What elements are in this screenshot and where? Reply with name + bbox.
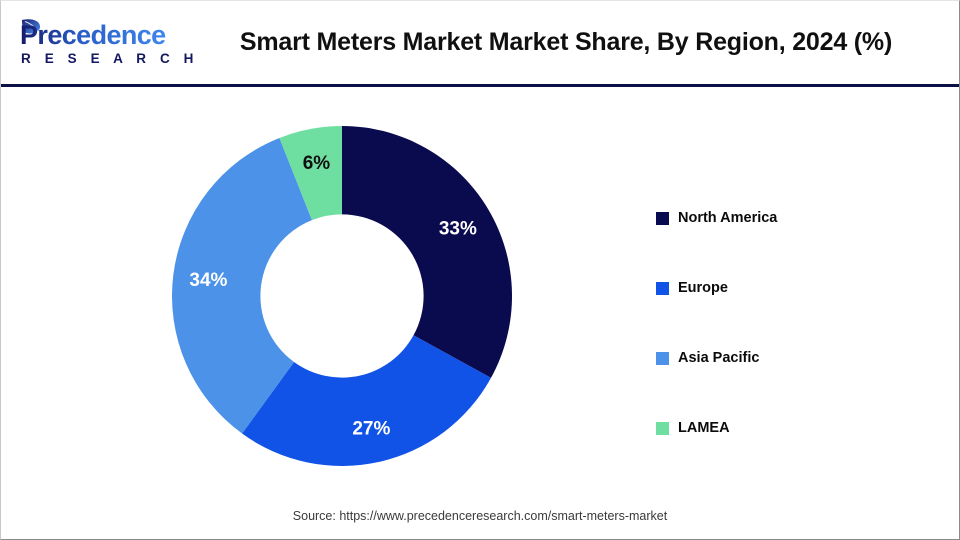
precedence-research-logo: Precedence R E S E A R C H [15, 17, 175, 73]
donut-slice-label: 27% [352, 418, 390, 439]
donut-slice[interactable] [342, 126, 512, 378]
legend-swatch-lamea [656, 422, 669, 435]
legend-swatch-asia-pacific [656, 352, 669, 365]
page-title: Smart Meters Market Market Share, By Reg… [181, 1, 951, 84]
chart-legend: North America Europe Asia Pacific LAMEA [656, 183, 906, 463]
svg-text:Precedence: Precedence [20, 20, 166, 50]
chart-header: Precedence R E S E A R C H Smart Meters … [1, 1, 959, 87]
legend-item-lamea[interactable]: LAMEA [656, 393, 906, 463]
legend-label-asia-pacific: Asia Pacific [678, 350, 759, 366]
donut-chart: 33%27%34%6% [172, 126, 512, 466]
logo-wordmark-icon: Precedence [15, 17, 175, 51]
source-caption: Source: https://www.precedenceresearch.c… [1, 509, 959, 523]
chart-body: 33%27%34%6% North America Europe Asia Pa… [1, 87, 959, 540]
donut-slice-label: 33% [439, 218, 477, 239]
donut-chart-svg: 33%27%34%6% [172, 126, 512, 466]
logo-subtitle: R E S E A R C H [21, 52, 171, 66]
donut-slices [172, 126, 512, 466]
donut-slice-label: 34% [189, 270, 227, 291]
legend-label-north-america: North America [678, 210, 777, 226]
legend-swatch-europe [656, 282, 669, 295]
legend-label-lamea: LAMEA [678, 420, 730, 436]
legend-swatch-north-america [656, 212, 669, 225]
legend-label-europe: Europe [678, 280, 728, 296]
legend-item-north-america[interactable]: North America [656, 183, 906, 253]
legend-item-asia-pacific[interactable]: Asia Pacific [656, 323, 906, 393]
legend-item-europe[interactable]: Europe [656, 253, 906, 323]
donut-slice-label: 6% [303, 153, 331, 174]
chart-page: Precedence R E S E A R C H Smart Meters … [0, 0, 960, 540]
